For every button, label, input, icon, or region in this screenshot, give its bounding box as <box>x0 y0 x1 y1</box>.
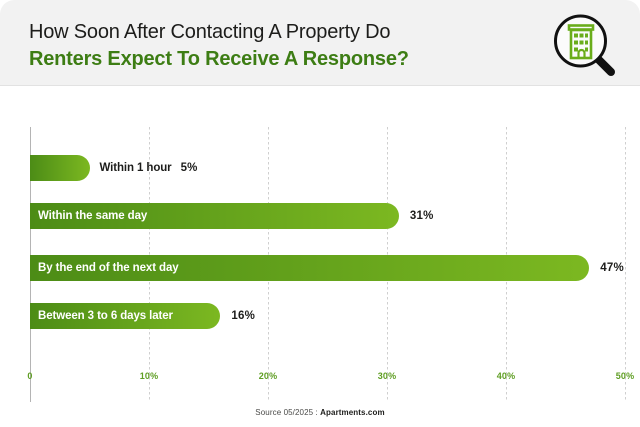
magnifier-apartment-building-icon <box>547 8 623 80</box>
bar-row[interactable]: Between 3 to 6 days later16% <box>0 303 640 329</box>
x-axis-tick-label: 30% <box>378 371 397 381</box>
x-axis-tick-label: 20% <box>259 371 278 381</box>
source-attribution: Source 05/2025 : Apartments.com <box>0 408 640 417</box>
bar-row[interactable]: Within 1 hour5% <box>0 155 640 181</box>
header-banner: How Soon After Contacting A Property Do … <box>0 0 640 86</box>
bar-row[interactable]: By the end of the next day47% <box>0 255 640 281</box>
x-axis-tick-label: 0 <box>27 371 32 381</box>
bar-category-label: Within 1 hour <box>100 155 172 181</box>
bar-value-label: 16% <box>231 303 255 329</box>
infographic-card: How Soon After Contacting A Property Do … <box>0 0 640 427</box>
page-title: How Soon After Contacting A Property Do … <box>29 20 499 72</box>
bar-category-label: Within the same day <box>38 203 147 229</box>
bar-value-label: 47% <box>600 255 624 281</box>
bar-chart: 010%20%30%40%50% Within 1 hour5%Within t… <box>0 86 640 427</box>
bar-category-label: Between 3 to 6 days later <box>38 303 173 329</box>
bar[interactable] <box>30 155 90 181</box>
source-brand: Apartments.com <box>320 408 385 417</box>
bar-value-label: 5% <box>181 155 198 181</box>
bar-value-label: 31% <box>410 203 434 229</box>
bar-row[interactable]: Within the same day31% <box>0 203 640 229</box>
bar-category-label: By the end of the next day <box>38 255 179 281</box>
source-prefix: Source 05/2025 : <box>255 408 320 417</box>
title-line-secondary: Renters Expect To Receive A Response? <box>29 47 499 72</box>
x-axis-tick-label: 50% <box>616 371 635 381</box>
x-axis-tick-label: 40% <box>497 371 516 381</box>
x-axis-tick-label: 10% <box>140 371 159 381</box>
title-line-primary: How Soon After Contacting A Property Do <box>29 20 499 45</box>
